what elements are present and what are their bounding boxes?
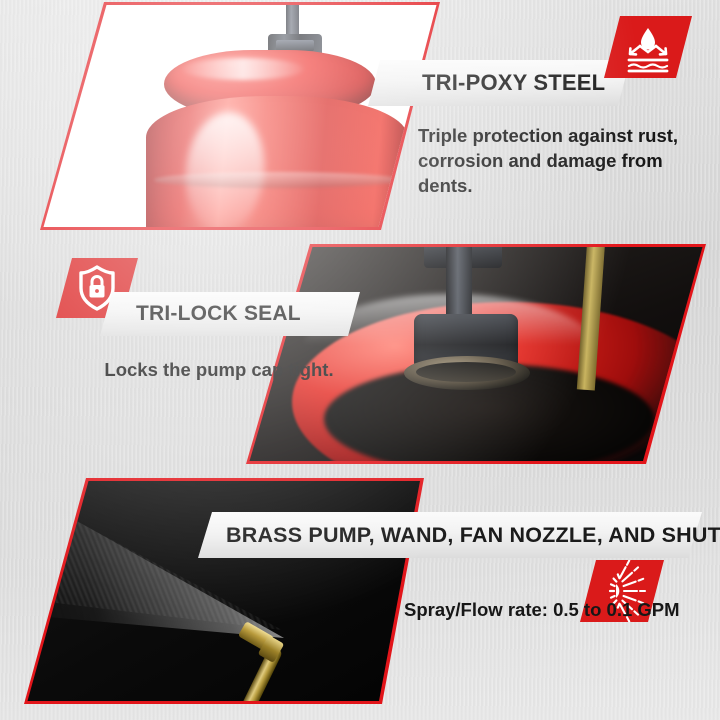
feature-title: TRI-POXY STEEL <box>422 70 605 96</box>
feature-photo-tri-lock-seal <box>246 244 706 466</box>
feature-icon-badge-tri-poxy-steel <box>604 16 692 78</box>
feature-title: BRASS PUMP, WAND, FAN NOZZLE, AND SHUT-O… <box>226 523 720 548</box>
tank-rib <box>154 172 400 188</box>
feature-title-banner-tri-lock-seal: TRI-LOCK SEAL <box>100 292 360 336</box>
feature-description-tri-poxy-steel: Triple protection against rust, corrosio… <box>418 124 698 199</box>
feature-photo-tri-poxy-steel <box>40 2 440 232</box>
feature-description-brass-pump-wand: Spray/Flow rate: 0.5 to 0.1 GPM <box>404 598 684 623</box>
feature-title-banner-tri-poxy-steel: TRI-POXY STEEL <box>368 60 630 106</box>
product-infographic: TRI-POXY STEEL Triple protection against… <box>0 0 720 720</box>
pump-cap-closeup-photo <box>246 244 706 466</box>
pump-cap-ring-inner <box>416 362 516 382</box>
red-steel-tank-photo <box>40 2 440 232</box>
tank-cap-highlight <box>182 58 304 80</box>
feature-description-tri-lock-seal: Locks the pump cap tight. <box>104 358 334 383</box>
tank-illustration <box>140 2 420 232</box>
water-repellent-icon <box>604 16 692 78</box>
feature-title: TRI-LOCK SEAL <box>136 302 301 326</box>
tank-body <box>146 96 408 232</box>
feature-title-banner-brass-pump-wand: BRASS PUMP, WAND, FAN NOZZLE, AND SHUT-O… <box>198 512 702 558</box>
